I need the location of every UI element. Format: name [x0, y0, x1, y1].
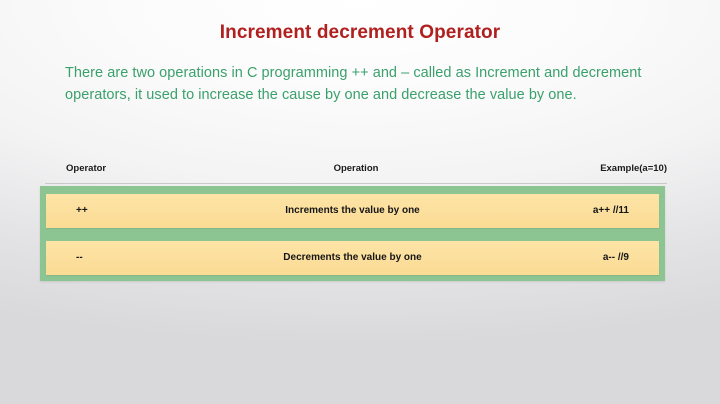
cell-operator: ++	[76, 194, 88, 228]
column-header-operator: Operator	[66, 163, 106, 174]
page-title: Increment decrement Operator	[0, 22, 720, 44]
table-header-row: Operation Operator Example(a=10)	[45, 163, 667, 184]
cell-operator: --	[76, 241, 83, 275]
cell-operation: Decrements the value by one	[46, 241, 659, 275]
cell-example: a-- //9	[603, 241, 629, 275]
column-header-example: Example(a=10)	[600, 163, 667, 174]
cell-example: a++ //11	[593, 194, 629, 228]
body-paragraph: There are two operations in C programmin…	[65, 62, 645, 106]
slide-canvas: Increment decrement Operator There are t…	[0, 0, 720, 404]
column-header-operation: Operation	[45, 163, 667, 174]
cell-operation: Increments the value by one	[46, 194, 659, 228]
table-panel: Increments the value by one ++ a++ //11 …	[40, 186, 665, 281]
table-row: Increments the value by one ++ a++ //11	[46, 194, 659, 228]
table-row: Decrements the value by one -- a-- //9	[46, 241, 659, 275]
